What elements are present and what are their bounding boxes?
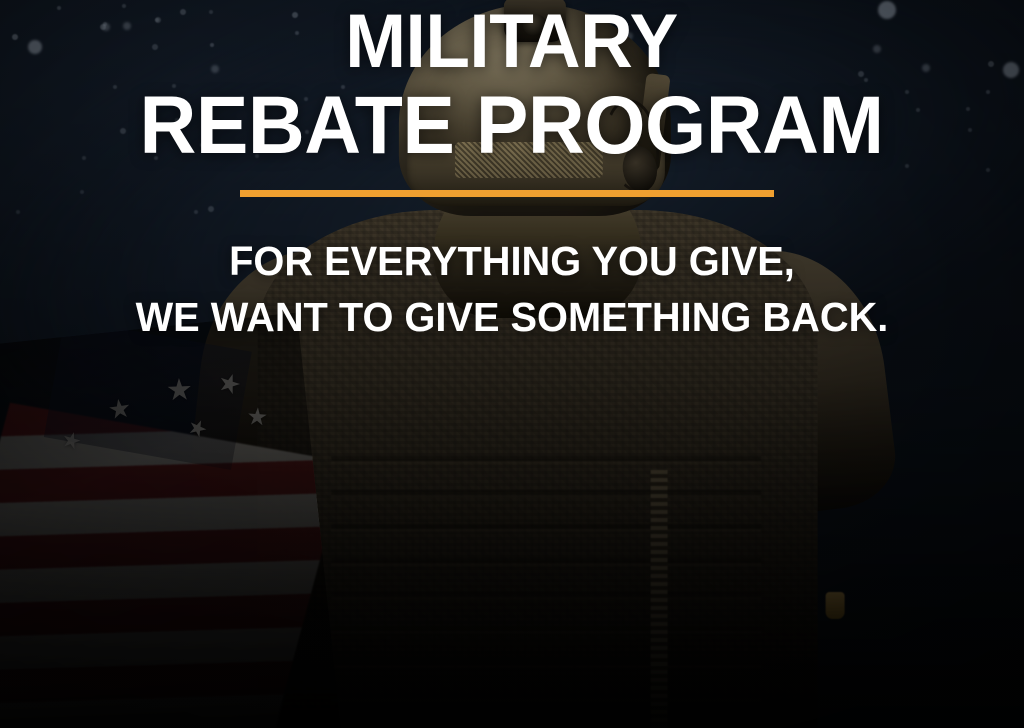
subheadline: FOR EVERYTHING YOU GIVE, WE WANT TO GIVE… [136, 233, 889, 345]
headline: MILITARY REBATE PROGRAM [140, 0, 884, 168]
headline-line-2: REBATE PROGRAM [140, 84, 884, 168]
military-rebate-banner: ★★★★★★ MILITARY REBATE PROGRAM FOR EVERY… [0, 0, 1024, 728]
subheadline-line-1: FOR EVERYTHING YOU GIVE, [136, 233, 889, 289]
subheadline-line-2: WE WANT TO GIVE SOMETHING BACK. [136, 289, 889, 345]
banner-content: MILITARY REBATE PROGRAM FOR EVERYTHING Y… [0, 0, 1024, 728]
headline-line-1: MILITARY [140, 0, 884, 84]
orange-divider [240, 190, 774, 197]
